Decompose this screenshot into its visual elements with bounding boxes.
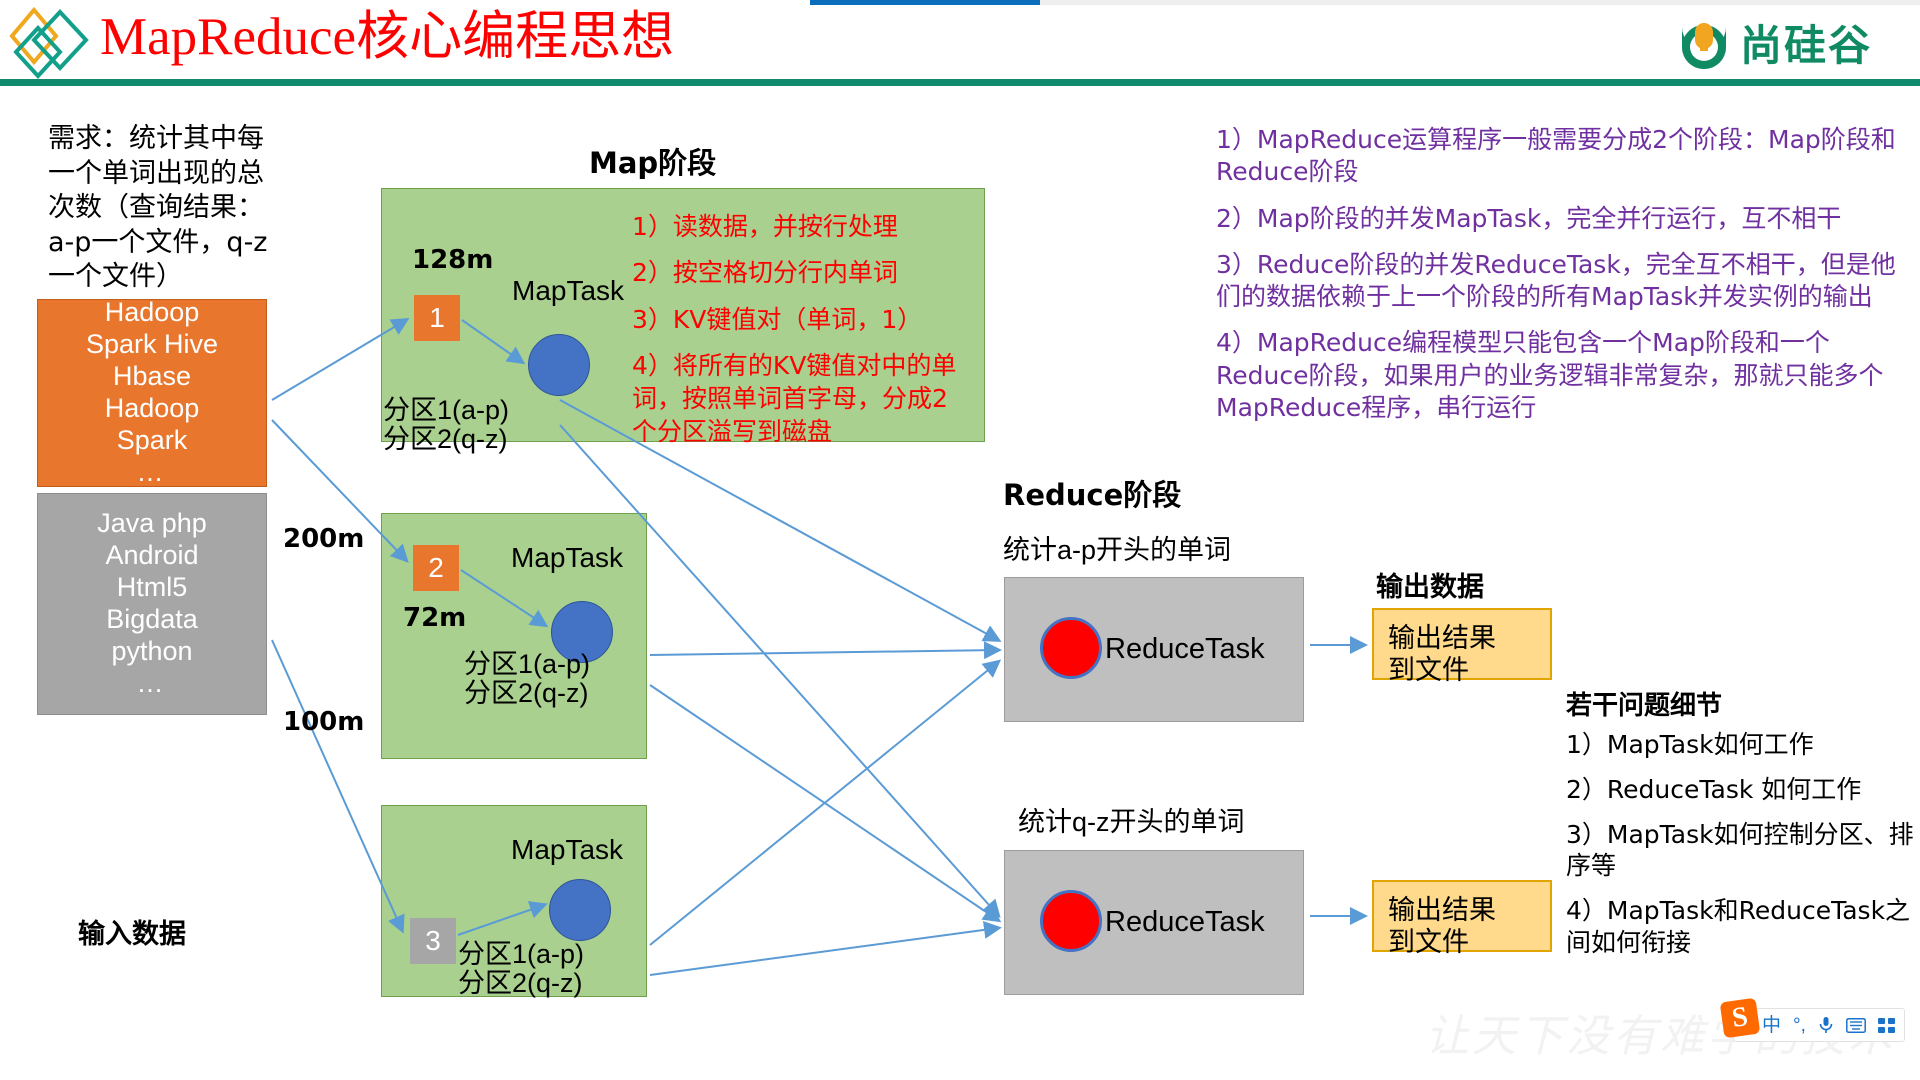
partition-labels-3: 分区1(a-p) 分区2(q-z) xyxy=(458,940,584,998)
output-data-title: 输出数据 xyxy=(1376,565,1484,604)
requirement-text: 需求：统计其中每 一个单词出现的总 次数（查询结果： a-p一个文件，q-z 一… xyxy=(48,122,328,295)
input-data-box-orange: Hadoop Spark Hive Hbase Hadoop Spark … xyxy=(37,299,267,487)
reduce-caption-ap: 统计a-p开头的单词 xyxy=(1003,528,1231,567)
diamond-logo-icon xyxy=(8,6,94,82)
open-questions-heading: 若干问题细节 xyxy=(1566,690,1914,723)
page-title-en: MapReduce xyxy=(100,8,356,66)
map-note: 3）KV键值对（单词，1） xyxy=(632,303,972,336)
size-label-128m: 128m xyxy=(412,245,493,275)
partition-label-p2: 分区2(q-z) xyxy=(458,969,584,998)
output-line: 到文件 xyxy=(1388,926,1536,958)
maptask-label-3: MapTask xyxy=(511,834,623,866)
size-label-72m: 72m xyxy=(403,603,466,633)
partition-label-p1: 分区1(a-p) xyxy=(458,940,584,969)
partition-labels-2: 分区1(a-p) 分区2(q-z) xyxy=(464,650,590,708)
principle-note: 4）MapReduce编程模型只能包含一个Map阶段和一个Reduce阶段，如果… xyxy=(1216,327,1906,424)
split-chip-2: 2 xyxy=(413,545,459,591)
input-line: python xyxy=(111,636,192,668)
partition-label-p2: 分区2(q-z) xyxy=(383,425,509,454)
map-phase-notes: 1）读数据，并按行处理 2）按空格切分行内单词 3）KV键值对（单词，1） 4）… xyxy=(632,210,972,449)
reducetask-circle-2 xyxy=(1040,890,1102,952)
maptask-label-1: MapTask xyxy=(512,275,624,307)
split-chip-3: 3 xyxy=(410,918,456,964)
output-file-box-1: 输出结果 到文件 xyxy=(1372,608,1552,680)
requirement-line: 一个文件） xyxy=(48,260,328,295)
split-chip-1: 1 xyxy=(414,295,460,341)
maptask-label-2: MapTask xyxy=(511,542,623,574)
slide-canvas: MapReduce核心编程思想 尚硅谷 需求：统计其中每 一个单词出现的总 次数… xyxy=(0,0,1920,1080)
reducetask-label-2: ReduceTask xyxy=(1105,906,1265,939)
principle-note: 3）Reduce阶段的并发ReduceTask，完全互不相干，但是他们的数据依赖… xyxy=(1216,249,1906,314)
ime-mode-label[interactable]: 中 xyxy=(1762,1016,1781,1035)
requirement-line: 一个单词出现的总 xyxy=(48,157,328,192)
reducetask-circle-1 xyxy=(1040,617,1102,679)
keyboard-icon[interactable] xyxy=(1846,1018,1866,1033)
brand-text: 尚硅谷 xyxy=(1740,12,1872,73)
title-divider xyxy=(0,79,1920,86)
requirement-line: 需求：统计其中每 xyxy=(48,122,328,157)
map-note: 2）按空格切分行内单词 xyxy=(632,256,972,289)
input-data-box-gray: Java php Android Html5 Bigdata python … xyxy=(37,493,267,715)
output-line: 输出结果 xyxy=(1388,894,1536,926)
page-title-cjk: 核心编程思想 xyxy=(356,6,674,67)
input-line: Spark Hive xyxy=(86,329,218,361)
output-line: 到文件 xyxy=(1388,654,1536,686)
open-question-item: 4）MapTask和ReduceTask之间如何衔接 xyxy=(1566,895,1914,959)
input-line: Html5 xyxy=(117,572,188,604)
input-line: Android xyxy=(105,540,198,572)
partition-label-p1: 分区1(a-p) xyxy=(464,650,590,679)
input-line: Java php xyxy=(97,508,207,540)
open-questions-list: 若干问题细节 1）MapTask如何工作 2）ReduceTask 如何工作 3… xyxy=(1566,690,1914,972)
maptask-circle-3 xyxy=(549,879,611,941)
input-line: Hadoop xyxy=(105,393,200,425)
sogou-ime-logo-icon[interactable]: S xyxy=(1720,998,1761,1039)
input-line: Spark xyxy=(117,425,188,457)
input-line: Hadoop xyxy=(105,297,200,329)
principle-note: 2）Map阶段的并发MapTask，完全并行运行，互不相干 xyxy=(1216,203,1906,235)
open-question-item: 1）MapTask如何工作 xyxy=(1566,729,1914,761)
map-phase-title: Map阶段 xyxy=(589,140,716,182)
open-question-item: 2）ReduceTask 如何工作 xyxy=(1566,774,1914,806)
partition-label-p1: 分区1(a-p) xyxy=(383,396,509,425)
partition-label-p2: 分区2(q-z) xyxy=(464,679,590,708)
page-title: MapReduce核心编程思想 xyxy=(100,8,674,66)
map-note: 1）读数据，并按行处理 xyxy=(632,210,972,243)
output-file-box-2: 输出结果 到文件 xyxy=(1372,880,1552,952)
apps-icon[interactable] xyxy=(1878,1018,1896,1033)
brand: 尚硅谷 xyxy=(1678,12,1872,73)
input-line: … xyxy=(137,668,168,700)
reduce-phase-title: Reduce阶段 xyxy=(1003,472,1181,514)
maptask-circle-1 xyxy=(528,334,590,396)
u-logo-icon xyxy=(1678,17,1730,69)
size-label-200m: 200m xyxy=(283,524,364,554)
requirement-line: a-p一个文件，q-z xyxy=(48,226,328,261)
progress-indicator xyxy=(810,0,1040,5)
principle-note: 1）MapReduce运算程序一般需要分成2个阶段：Map阶段和Reduce阶段 xyxy=(1216,124,1906,189)
input-line: Hbase xyxy=(113,361,191,393)
mic-icon[interactable] xyxy=(1818,1016,1834,1034)
input-data-label: 输入数据 xyxy=(78,912,186,951)
open-question-item: 3）MapTask如何控制分区、排序等 xyxy=(1566,819,1914,883)
input-line: … xyxy=(137,457,168,489)
partition-labels-1: 分区1(a-p) 分区2(q-z) xyxy=(383,396,509,454)
map-note: 4）将所有的KV键值对中的单词，按照单词首字母，分成2个分区溢写到磁盘 xyxy=(632,349,972,449)
requirement-line: 次数（查询结果： xyxy=(48,191,328,226)
reduce-caption-qz: 统计q-z开头的单词 xyxy=(1018,800,1245,839)
input-line: Bigdata xyxy=(106,604,198,636)
size-label-100m: 100m xyxy=(283,707,364,737)
ime-punctuation-icon[interactable]: °, xyxy=(1793,1016,1806,1035)
mapreduce-principles-notes: 1）MapReduce运算程序一般需要分成2个阶段：Map阶段和Reduce阶段… xyxy=(1216,124,1906,438)
output-line: 输出结果 xyxy=(1388,622,1536,654)
reducetask-label-1: ReduceTask xyxy=(1105,633,1265,666)
